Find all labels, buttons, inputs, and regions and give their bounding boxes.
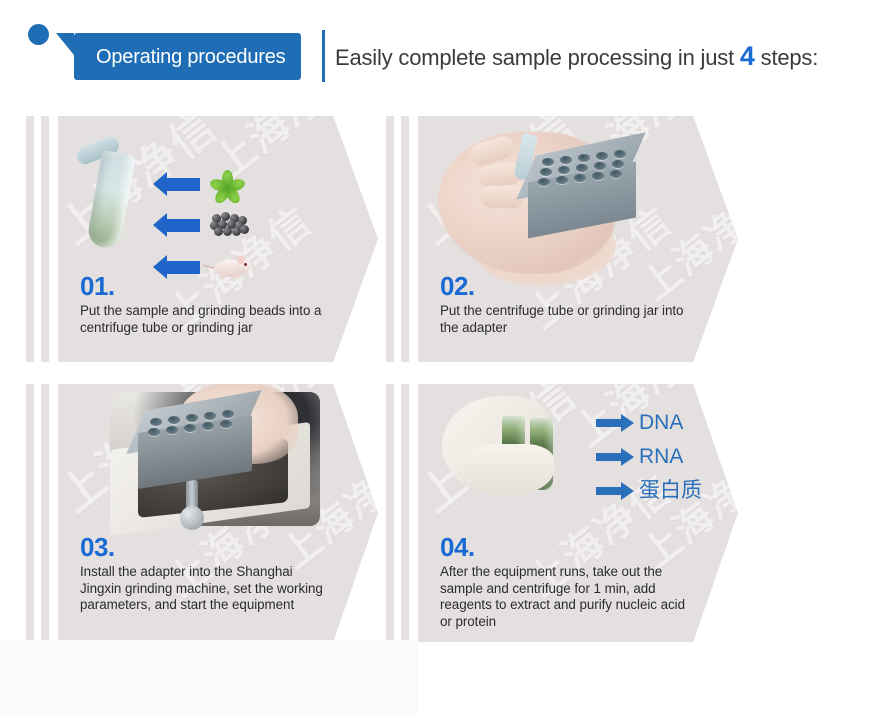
- step-card-04: 上海净信 上海净信 上海净信 上海净信 DNA RNA: [382, 380, 772, 638]
- output-row-dna: DNA: [596, 412, 683, 433]
- step-01-illustration: [58, 116, 378, 276]
- step-panel: 上海净信 上海净信 上海净信 上海净信 DNA RNA: [418, 384, 738, 642]
- step-03-illustration: [58, 384, 378, 534]
- step-card-01: 上海净信 上海净信 上海净信: [22, 112, 412, 358]
- arrow-left-icon: [166, 219, 200, 232]
- sample-row-leaf: [166, 168, 244, 200]
- step-description: Install the adapter into the Shanghai Ji…: [80, 564, 332, 614]
- step-panel: 上海净信 上海净信 上海净信 上海净信: [58, 384, 378, 642]
- accent-bar: [41, 384, 49, 642]
- accent-bar: [401, 116, 409, 362]
- tagline-step-count: 4: [740, 41, 755, 71]
- leaf-sample-icon: [210, 168, 244, 200]
- step-number: 03.: [80, 532, 356, 562]
- tagline-after: steps:: [755, 45, 818, 70]
- sample-row-beads: [166, 212, 248, 238]
- output-row-protein: 蛋白质: [596, 480, 702, 501]
- badge-label: Operating procedures: [96, 47, 285, 67]
- badge-tail-icon: [56, 33, 74, 55]
- step-number: 01.: [80, 271, 356, 301]
- step-card-02: 上海净信 上海净信 上海净信 上海净信: [382, 112, 772, 358]
- step-number: 02.: [440, 271, 716, 301]
- step-04-illustration: DNA RNA 蛋白质: [418, 384, 738, 524]
- machine-ball-icon: [180, 506, 204, 530]
- output-label: RNA: [639, 446, 683, 467]
- bottom-tint-block: [0, 640, 418, 715]
- grinding-beads-icon: [210, 212, 248, 238]
- header-divider: [322, 30, 325, 82]
- accent-bar: [41, 116, 49, 362]
- gloved-fingers-icon: [458, 444, 554, 496]
- page-header: Operating procedures Easily complete sam…: [0, 0, 869, 100]
- accent-bar: [26, 384, 34, 642]
- output-label: 蛋白质: [639, 480, 702, 501]
- step-panel: 上海净信 上海净信 上海净信: [58, 116, 378, 362]
- output-label: DNA: [639, 412, 683, 433]
- arrow-left-icon: [166, 178, 200, 191]
- operating-procedures-badge: Operating procedures: [74, 33, 301, 80]
- step-caption: 01. Put the sample and grinding beads in…: [58, 271, 378, 336]
- accent-bar: [401, 384, 409, 642]
- accent-bar: [386, 116, 394, 362]
- step-card-03: 上海净信 上海净信 上海净信 上海净信: [22, 380, 412, 638]
- step-caption: 04. After the equipment runs, take out t…: [418, 532, 738, 630]
- page-title: Easily complete sample processing in jus…: [335, 41, 818, 73]
- step-panel: 上海净信 上海净信 上海净信 上海净信: [418, 116, 738, 362]
- output-row-rna: RNA: [596, 446, 683, 467]
- decorative-dot-icon: [28, 24, 49, 45]
- step-caption: 03. Install the adapter into the Shangha…: [58, 532, 378, 614]
- step-caption: 02. Put the centrifuge tube or grinding …: [418, 271, 738, 336]
- step-02-illustration: [418, 116, 738, 288]
- step-description: After the equipment runs, take out the s…: [440, 564, 692, 630]
- arrow-right-icon: [596, 487, 622, 495]
- step-description: Put the centrifuge tube or grinding jar …: [440, 303, 692, 336]
- arrow-right-icon: [596, 419, 622, 427]
- step-description: Put the sample and grinding beads into a…: [80, 303, 332, 336]
- step-number: 04.: [440, 532, 716, 562]
- accent-bar: [26, 116, 34, 362]
- steps-grid: 上海净信 上海净信 上海净信: [0, 108, 869, 648]
- arrow-right-icon: [596, 453, 622, 461]
- accent-bar: [386, 384, 394, 642]
- tagline-before: Easily complete sample processing in jus…: [335, 45, 740, 70]
- centrifuge-tube-icon: [86, 150, 136, 250]
